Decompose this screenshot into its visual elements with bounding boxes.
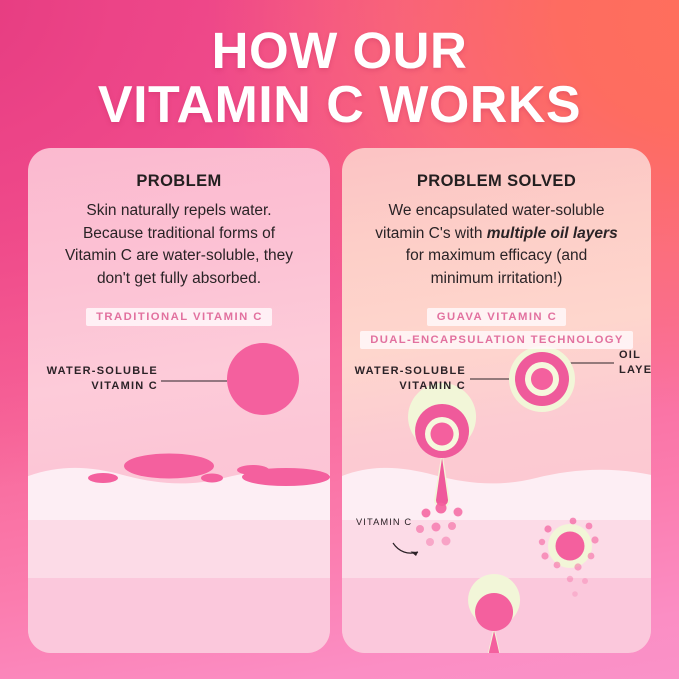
label-vitamin-c: VITAMIN C (356, 515, 412, 530)
label-water-soluble-vitamin-c-left: WATER-SOLUBLE VITAMIN C (40, 364, 158, 393)
solution-body-emphasis: multiple oil layers (487, 225, 618, 242)
capsule-top-target (509, 346, 575, 412)
skin-layer-3 (28, 578, 330, 653)
page-title: HOW OUR VITAMIN C WORKS (0, 24, 679, 132)
capsule-core (431, 423, 454, 446)
label-oil-layers: OIL LAYERS (619, 348, 651, 377)
label-water-soluble-vitamin-c-right: WATER-SOLUBLE VITAMIN C (348, 364, 466, 393)
problem-body-line-3: Vitamin C are water-soluble, they (42, 245, 316, 268)
water-soluble-vitamin-c-circle (227, 343, 299, 415)
solution-body-line-1: We encapsulated water-soluble (356, 200, 637, 223)
problem-heading: PROBLEM (28, 172, 330, 191)
solution-badges: GUAVA VITAMIN C DUAL-ENCAPSULATION TECHN… (342, 307, 651, 353)
solution-body-line-4: minimum irritation!) (356, 268, 637, 291)
label-line-1: WATER-SOLUBLE (348, 364, 466, 379)
problem-body-line-1: Skin naturally repels water. (42, 200, 316, 223)
page-title-line-2: VITAMIN C WORKS (0, 78, 679, 132)
label-line-1: WATER-SOLUBLE (40, 364, 158, 379)
solution-heading: PROBLEM SOLVED (342, 172, 651, 191)
skin-layer-surface (342, 468, 651, 520)
badge-dual-encapsulation-technology: DUAL-ENCAPSULATION TECHNOLOGY (360, 331, 633, 350)
water-bead (88, 473, 118, 483)
solution-card: PROBLEM SOLVED We encapsulated water-sol… (342, 148, 651, 653)
solution-body: We encapsulated water-soluble vitamin C'… (342, 200, 651, 290)
badge-guava-vitamin-c: GUAVA VITAMIN C (427, 308, 567, 327)
problem-badges: TRADITIONAL VITAMIN C (28, 307, 330, 330)
problem-copy: PROBLEM Skin naturally repels water. Bec… (28, 148, 330, 330)
problem-card: PROBLEM Skin naturally repels water. Bec… (28, 148, 330, 653)
solution-body-line-2: vitamin C's with multiple oil layers (356, 223, 637, 246)
problem-body: Skin naturally repels water. Because tra… (28, 200, 330, 290)
label-line-2: VITAMIN C (40, 379, 158, 394)
skin-layer-2 (28, 520, 330, 578)
problem-body-line-4: don't get fully absorbed. (42, 268, 316, 291)
water-bead (242, 468, 330, 486)
label-line-1: OIL (619, 348, 651, 363)
water-bead (124, 454, 214, 479)
solution-body-line-2-text: vitamin C's with (375, 225, 486, 242)
label-line-2: VITAMIN C (348, 379, 466, 394)
label-line-2: LAYERS (619, 363, 651, 378)
solution-copy: PROBLEM SOLVED We encapsulated water-sol… (342, 148, 651, 353)
solution-body-line-3: for maximum efficacy (and (356, 245, 637, 268)
capsule-core (531, 368, 553, 390)
badge-traditional-vitamin-c: TRADITIONAL VITAMIN C (86, 308, 272, 327)
capsule-core (556, 532, 585, 561)
water-bead (201, 474, 223, 483)
problem-body-line-2: Because traditional forms of (42, 223, 316, 246)
page-title-line-1: HOW OUR (0, 24, 679, 78)
